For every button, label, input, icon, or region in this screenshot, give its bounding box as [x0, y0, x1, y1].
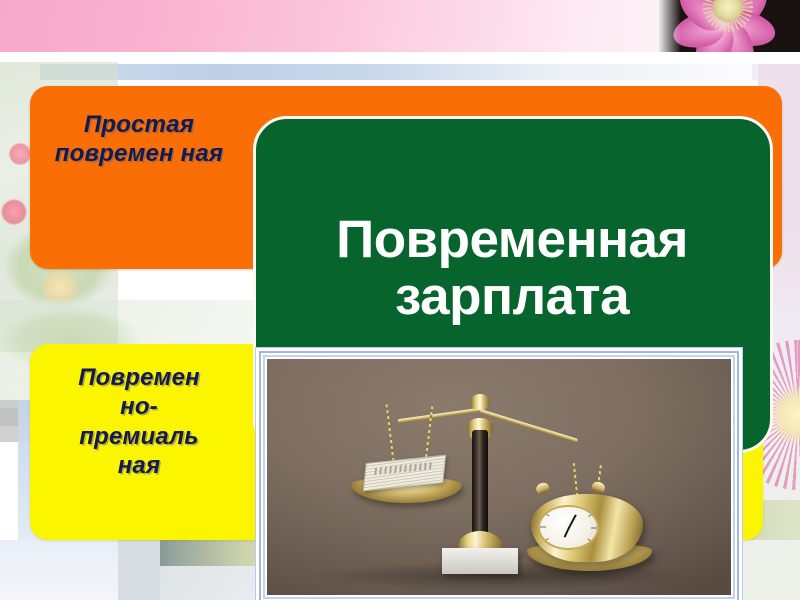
photo-frame — [256, 348, 742, 600]
white-strip — [0, 52, 800, 64]
card-simple-time-based-label: Простая повремен ная — [30, 110, 248, 169]
scale-beam-right — [480, 409, 579, 443]
scale-column — [472, 430, 488, 536]
card-time-based-bonus-line3: премиаль — [79, 423, 199, 450]
card-time-based-bonus-line4: ная — [118, 452, 161, 479]
scale-top-cap — [470, 394, 490, 410]
page-title: Повременная зарплата — [262, 211, 762, 325]
balance-scale-photo — [267, 359, 731, 595]
card-time-based-bonus-label: Повремен но- премиаль ная — [30, 363, 248, 480]
flower-fade-overlay — [657, 0, 681, 52]
clock-face — [538, 505, 598, 550]
card-time-based-bonus-line1: Повремен — [78, 364, 200, 391]
blue-accent-band — [40, 64, 758, 80]
slide-canvas: Простая повремен ная Повремен но- премиа… — [0, 0, 800, 600]
scale-marble-base — [442, 548, 518, 574]
card-time-based-bonus-line2: но- — [120, 393, 158, 420]
